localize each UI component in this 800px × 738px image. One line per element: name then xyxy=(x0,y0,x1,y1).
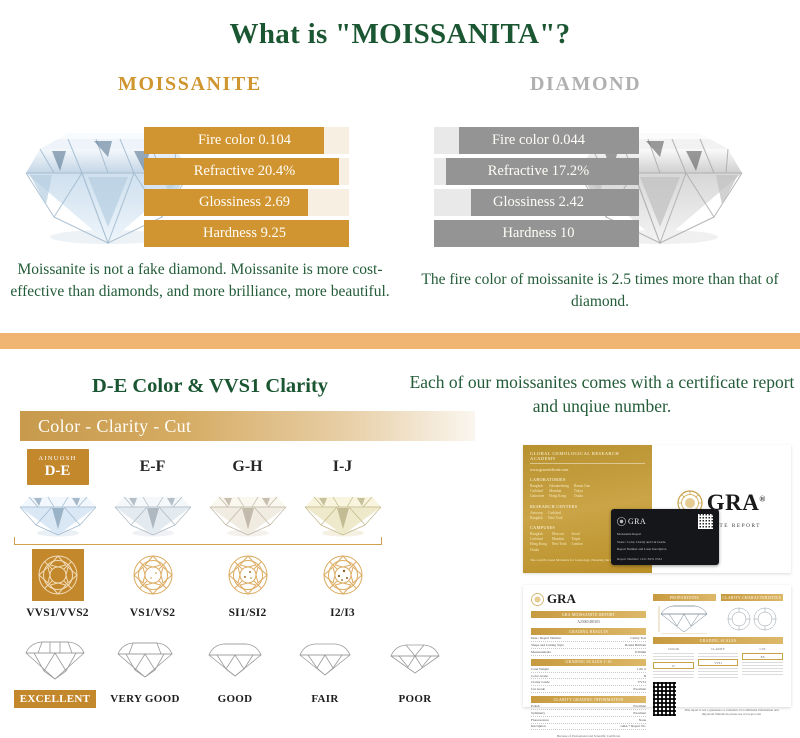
report-line: FluorescenceNone xyxy=(531,717,646,724)
clarity-grade-row: VVS1/VVS2 xyxy=(10,549,410,619)
column-header-moissanite: MOISSANITE xyxy=(118,73,262,96)
certificate-report-image[interactable]: GRA GRA MOISSANITE REPORT A23065480183 G… xyxy=(523,585,791,707)
cut-grade-row: EXCELLENT xyxy=(10,639,490,708)
bar-label: Refractive 20.4% xyxy=(144,158,349,185)
diamond-color-gh-icon xyxy=(204,489,292,539)
diamond-metric-bars: Fire color 0.044 Refractive 17.2% Glossi… xyxy=(434,127,639,247)
color-grade-row: AINUOSH D-E xyxy=(10,449,410,544)
cut-grade-cell-very-good[interactable]: VERY GOOD xyxy=(100,639,190,708)
caption-moissanite: Moissanite is not a fake diamond. Moissa… xyxy=(10,259,390,303)
diamond-profile-icon xyxy=(10,639,100,683)
bar-row: Refractive 20.4% xyxy=(144,158,349,185)
report-section-header: CLARITY CHARACTERISTICS xyxy=(721,594,783,601)
grading-section: D-E Color & VVS1 Clarity Each of our moi… xyxy=(0,349,800,715)
section-title: LABORATORIES xyxy=(530,477,645,482)
bar-row: Fire color 0.104 xyxy=(144,127,349,154)
report-line: Cut GradeExcellent xyxy=(531,686,646,693)
report-line: Date / Report NumberClarity Test xyxy=(531,635,646,642)
certificate-cover-image[interactable]: GLOBAL GEMOLOGICAL RESEARCH ACADEMY www.… xyxy=(523,445,791,573)
clarity-grade-cell-vvs[interactable]: VVS1/VVS2 xyxy=(10,549,105,619)
report-section-header: GRADING RESULTS xyxy=(531,628,646,635)
academy-header: GLOBAL GEMOLOGICAL RESEARCH ACADEMY xyxy=(530,451,645,464)
section-title: RESEARCH CENTERS xyxy=(530,504,645,509)
color-grade-label: G-H xyxy=(200,449,295,485)
report-footer-right: This report is not a guarantee or valuat… xyxy=(680,708,783,716)
color-grade-label: I-J xyxy=(295,449,390,485)
report-section-header: PROPORTIONS xyxy=(653,594,715,601)
bar-label: Hardness 10 xyxy=(434,220,639,247)
cut-grade-label: FAIR xyxy=(305,690,344,708)
page-title: What is "MOISSANITA"? xyxy=(0,0,800,51)
cut-grade-label: EXCELLENT xyxy=(14,690,97,708)
round-brilliant-top-icon xyxy=(226,553,270,597)
color-grade-cell-gh[interactable]: G-H xyxy=(200,449,295,544)
card-line: Moissanite Report xyxy=(617,532,713,537)
bar-label: Fire color 0.104 xyxy=(144,127,349,154)
bar-label: Glossiness 2.69 xyxy=(144,189,349,216)
color-grade-label: E-F xyxy=(105,449,200,485)
section-items: BangkokCarlsbadGaborone xyxy=(530,484,544,500)
clarity-highlight-box xyxy=(32,549,84,601)
clarity-grade-cell-si[interactable]: SI1/SI2 xyxy=(200,549,295,619)
registered-mark: ® xyxy=(759,494,765,503)
brand-label: AINUOSH xyxy=(38,455,76,463)
diamond-profile-icon xyxy=(190,639,280,683)
clarity-grade-cell-i[interactable]: I2/I3 xyxy=(295,549,390,619)
academy-website: www.gracertificate.com xyxy=(530,467,645,472)
section-items: MoscowMumbaiNew York xyxy=(552,532,567,553)
scale-column-color: COLOR D xyxy=(653,647,694,678)
report-footer-left: Because of Professional and Scientific C… xyxy=(531,734,646,738)
section-items: SeoulTaipeiLondon xyxy=(571,532,582,553)
diamond-color-de-icon xyxy=(14,489,102,539)
clarity-box xyxy=(317,549,369,601)
bar-row: Glossiness 2.42 xyxy=(434,189,639,216)
qr-code-icon xyxy=(698,514,713,529)
clarity-box xyxy=(127,549,179,601)
cut-grade-cell-poor[interactable]: POOR xyxy=(370,639,460,708)
color-range-bracket xyxy=(14,537,382,545)
color-grade-badge: AINUOSH D-E xyxy=(27,449,89,485)
report-line: InscriptionGRA + Report No. xyxy=(531,724,646,731)
diamond-color-ij-icon xyxy=(299,489,387,539)
section-items: JohannesburgMumbaiHong Kong xyxy=(549,484,569,500)
gra-seal-icon xyxy=(531,593,544,606)
cut-grade-cell-fair[interactable]: FAIR xyxy=(280,639,370,708)
report-line: PolishExcellent xyxy=(531,703,646,710)
cut-grade-label: VERY GOOD xyxy=(104,690,185,708)
clarity-grade-label: VS1/VS2 xyxy=(105,607,200,619)
report-line: Color GradeD xyxy=(531,673,646,680)
caption-fire-color: The fire color of moissanite is 2.5 time… xyxy=(410,269,790,313)
comparison-section: Fire color 0.104 Refractive 20.4% Glossi… xyxy=(0,115,800,255)
comparison-captions: Moissanite is not a fake diamond. Moissa… xyxy=(0,255,800,333)
color-clarity-cut-label: Color - Clarity - Cut xyxy=(20,416,191,436)
section-divider xyxy=(0,333,800,349)
section-items: AntwerpBangkok xyxy=(530,511,543,521)
round-brilliant-top-icon xyxy=(36,553,80,597)
cut-grade-cell-excellent[interactable]: EXCELLENT xyxy=(10,639,100,708)
color-grade-cell-de[interactable]: AINUOSH D-E xyxy=(10,449,105,544)
clarity-box xyxy=(222,549,274,601)
bar-label: Refractive 17.2% xyxy=(434,158,639,185)
section-items: Ramat GanTokyoOsaka xyxy=(574,484,590,500)
diamond-profile-icon xyxy=(100,639,190,683)
report-number: A23065480183 xyxy=(531,618,646,625)
bar-row: Hardness 10 xyxy=(434,220,639,247)
clarity-grade-label: I2/I3 xyxy=(295,607,390,619)
bar-row: Refractive 17.2% xyxy=(434,158,639,185)
report-section-header: CLARITY GRADING INFORMATION xyxy=(531,696,646,703)
round-brilliant-top-icon xyxy=(321,553,365,597)
report-line: Shape and Cutting StyleRound Brilliant xyxy=(531,642,646,649)
bar-row: Hardness 9.25 xyxy=(144,220,349,247)
diamond-color-ef-icon xyxy=(109,489,197,539)
card-line: Report Number and Laser Inscription xyxy=(617,547,713,552)
report-line: Carat Weight1.00 ct xyxy=(531,666,646,673)
color-grade-cell-ij[interactable]: I-J xyxy=(295,449,390,544)
certificate-black-card: GRA Moissanite Report Stone / Color, Cla… xyxy=(611,509,719,565)
cut-grade-cell-good[interactable]: GOOD xyxy=(190,639,280,708)
qr-code-icon xyxy=(653,682,676,716)
section-items: CarlsbadNew York xyxy=(548,511,563,521)
report-section-header: GRADING SCALES xyxy=(653,637,783,644)
scale-column-cut: CUT EX xyxy=(742,647,783,678)
proportions-diagram xyxy=(653,604,715,634)
card-report-number: Report Number: 1221 8431 0543 xyxy=(617,557,713,561)
bar-row: Fire color 0.044 xyxy=(434,127,639,154)
round-brilliant-top-icon xyxy=(131,553,175,597)
diamond-profile-icon xyxy=(280,639,370,683)
report-line: Measurements6.50mm xyxy=(531,649,646,656)
cut-grade-label: GOOD xyxy=(212,690,259,708)
clarity-plot-diagram xyxy=(721,604,783,634)
bar-label: Fire color 0.044 xyxy=(434,127,639,154)
scale-column-clarity: CLARITY VVS1 xyxy=(698,647,739,678)
bar-row: Glossiness 2.69 xyxy=(144,189,349,216)
comparison-column-headers: MOISSANITE DIAMOND xyxy=(0,73,800,115)
report-line: Clarity GradeVVS1 xyxy=(531,679,646,686)
color-clarity-cut-band: Color - Clarity - Cut xyxy=(20,411,475,441)
section-items: BangkokCarlsbadHong KongOsaka xyxy=(530,532,547,553)
grading-title: D-E Color & VVS1 Clarity xyxy=(30,375,390,398)
clarity-grade-cell-vs[interactable]: VS1/VS2 xyxy=(105,549,200,619)
diamond-profile-icon xyxy=(370,639,460,683)
color-grade-cell-ef[interactable]: E-F xyxy=(105,449,200,544)
color-grade-label: D-E xyxy=(45,463,71,479)
card-line: Stone / Color, Clarity and Cut Grade xyxy=(617,540,713,545)
clarity-grade-label: VVS1/VVS2 xyxy=(10,607,105,619)
cut-grade-label: POOR xyxy=(393,690,438,708)
gra-seal-icon xyxy=(617,517,626,526)
report-logo-text: GRA xyxy=(547,591,576,607)
card-logo-text: GRA xyxy=(628,517,646,526)
report-section-header: GRADING SCALES 1-10 xyxy=(531,659,646,666)
bar-label: Hardness 9.25 xyxy=(144,220,349,247)
clarity-grade-label: SI1/SI2 xyxy=(200,607,295,619)
moissanite-metric-bars: Fire color 0.104 Refractive 20.4% Glossi… xyxy=(144,127,349,247)
report-line: SymmetryExcellent xyxy=(531,710,646,717)
column-header-diamond: DIAMOND xyxy=(530,73,641,96)
bar-label: Glossiness 2.42 xyxy=(434,189,639,216)
report-section-header: GRA MOISSANITE REPORT xyxy=(531,611,646,618)
